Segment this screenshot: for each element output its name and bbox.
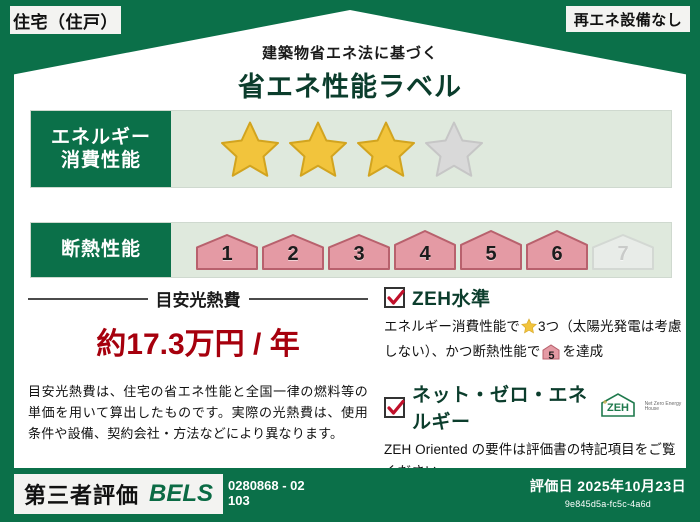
energy-performance-row: エネルギー 消費性能 [30, 110, 672, 188]
label-title-block: 建築物省エネ法に基づく 省エネ性能ラベル [0, 42, 700, 104]
star-empty-icon [423, 119, 485, 179]
energy-performance-label: 住宅（住戸） 再エネ設備なし 建築物省エネ法に基づく 省エネ性能ラベル エネルギ… [0, 0, 700, 522]
evaluation-hash: 9e845d5a-fc5c-4a6d [530, 499, 686, 509]
insulation-level-number: 6 [525, 243, 589, 266]
insulation-level-scale: 1234567 [171, 229, 655, 271]
zeh-body-end: を達成 [562, 344, 603, 359]
utility-cost-value: 約17.3万円 / 年 [28, 319, 368, 363]
insulation-level-filled: 4 [393, 229, 457, 271]
energy-performance-body [171, 111, 671, 187]
zeh-standard-title: ZEH水準 [412, 284, 491, 311]
bels-logo: BELS [149, 480, 213, 508]
star-filled-icon [287, 119, 349, 179]
insulation-level-number: 1 [195, 243, 259, 266]
bels-number-line2: 103 [228, 493, 305, 508]
utility-cost-note: 目安光熱費は、住宅の省エネ性能と全国一律の燃料等の単価を用いて算出したものです。… [28, 381, 368, 444]
insulation-label-text: 断熱性能 [61, 238, 141, 261]
insulation-level-number: 3 [327, 243, 391, 266]
zeh-body-part1: エネルギー消費性能で [384, 319, 520, 334]
net-zero-energy-checkbox[interactable] [384, 397, 405, 418]
evaluation-info: 評価日 2025年10月23日 9e845d5a-fc5c-4a6d [530, 476, 686, 509]
insulation-level-number: 2 [261, 243, 325, 266]
energy-performance-label: エネルギー 消費性能 [31, 111, 171, 187]
insulation-level-filled: 1 [195, 233, 259, 271]
insulation-level-filled: 2 [261, 233, 325, 271]
insulation-level-filled: 5 [459, 229, 523, 271]
third-party-evaluation-label: 第三者評価 [24, 478, 139, 510]
energy-label-line1: エネルギー [51, 126, 151, 149]
star-filled-icon [355, 119, 417, 179]
building-type-tag: 住宅（住戸） [8, 4, 123, 36]
zeh-standard-checkbox[interactable] [384, 287, 405, 308]
bels-number: 0280868 - 02 103 [228, 478, 305, 509]
title-subtitle: 建築物省エネ法に基づく [0, 42, 700, 63]
svg-text:ZEH: ZEH [607, 402, 629, 414]
rule-right [249, 298, 369, 300]
zeh-logo-icon: ZEH [599, 392, 637, 423]
inline-house-icon: 5 [542, 344, 560, 367]
insulation-performance-label: 断熱性能 [31, 223, 171, 277]
net-zero-energy-title: ネット・ゼロ・エネルギー [412, 380, 588, 434]
bels-number-line1: 0280868 - 02 [228, 478, 305, 493]
insulation-level-number: 7 [591, 243, 655, 266]
footer-bar: 第三者評価 BELS 0280868 - 02 103 評価日 2025年10月… [0, 468, 700, 522]
utility-cost-header: 目安光熱費 [28, 286, 368, 311]
energy-label-line2: 消費性能 [61, 149, 141, 172]
zeh-standard-body: エネルギー消費性能で3つ（太陽光発電は考慮しない）、かつ断熱性能で5を達成 [384, 316, 684, 366]
inline-house-number: 5 [542, 348, 560, 366]
renewable-equipment-tag: 再エネ設備なし [564, 4, 692, 34]
insulation-performance-body: 1234567 [171, 223, 671, 277]
inline-star-icon [521, 322, 537, 337]
insulation-level-filled: 3 [327, 233, 391, 271]
zeh-standard-block: ZEH水準 エネルギー消費性能で3つ（太陽光発電は考慮しない）、かつ断熱性能で5… [384, 284, 684, 366]
star-rating [171, 119, 485, 179]
star-filled-icon [219, 119, 281, 179]
zeh-logo-caption: Net Zero Energy House [645, 402, 684, 413]
utility-cost-section: 目安光熱費 約17.3万円 / 年 目安光熱費は、住宅の省エネ性能と全国一律の燃… [28, 286, 368, 444]
page-title: 省エネ性能ラベル [0, 65, 700, 104]
evaluation-date: 評価日 2025年10月23日 [530, 476, 686, 496]
certification-checks: ZEH水準 エネルギー消費性能で3つ（太陽光発電は考慮しない）、かつ断熱性能で5… [384, 284, 684, 496]
insulation-level-filled: 6 [525, 229, 589, 271]
net-zero-energy-head: ネット・ゼロ・エネルギー ZEH Net Zero Energy House [384, 380, 684, 434]
insulation-level-empty: 7 [591, 233, 655, 271]
insulation-performance-row: 断熱性能 1234567 [30, 222, 672, 278]
insulation-level-number: 5 [459, 243, 523, 266]
zeh-standard-head: ZEH水準 [384, 284, 684, 311]
utility-cost-title: 目安光熱費 [156, 286, 241, 311]
rule-left [28, 298, 148, 300]
bels-badge: 第三者評価 BELS [14, 474, 223, 514]
insulation-level-number: 4 [393, 243, 457, 266]
